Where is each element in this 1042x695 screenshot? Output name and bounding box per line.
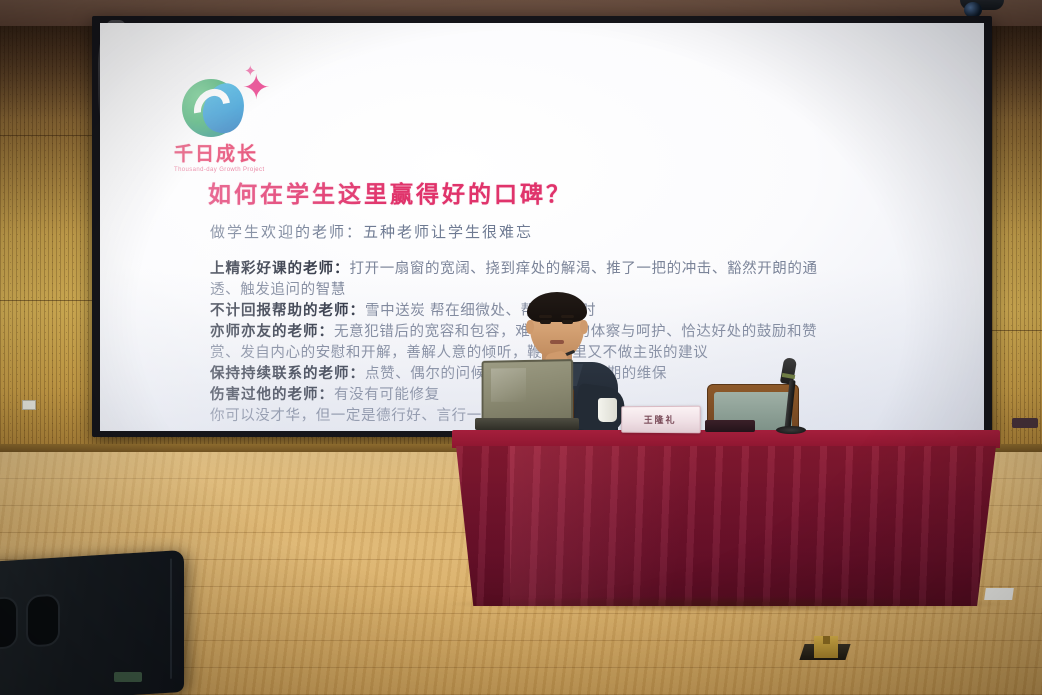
desk-object (705, 420, 755, 432)
wall-seam (0, 135, 92, 136)
presenter-mouth (550, 340, 564, 344)
socket-notch (823, 636, 830, 644)
speaker-foot (114, 672, 142, 682)
floor-socket-box (802, 636, 848, 660)
slide-body-heading: 亦师亦友的老师： (210, 324, 334, 340)
slide-subtitle: 做学生欢迎的老师：五种老师让学生很难忘 (210, 221, 533, 242)
wall-seam (992, 330, 1042, 331)
table-floor-shadow (448, 596, 1008, 612)
slide-title: 如何在学生这里赢得好的口碑？ (208, 175, 572, 209)
slide-body-text: 有没有可能修复 (334, 387, 440, 403)
presenter-ear-right (580, 320, 588, 334)
laptop-base (475, 418, 579, 430)
nameplate-text: 王隆礼 (644, 413, 677, 426)
brand-logo: ✦ ✦ 千日成长 Thousand-day Growth Project (174, 75, 314, 173)
speaker-port-left (0, 596, 18, 650)
presenter-hair (527, 292, 587, 322)
logo-cn-name: 千日成长 (174, 139, 314, 166)
microphone-stem (784, 380, 795, 430)
nameplate: 王隆礼 (621, 406, 700, 434)
slide-body-heading: 上精彩好课的老师： (210, 261, 350, 277)
paper-on-floor (984, 588, 1014, 600)
presenter-brow-right (561, 315, 574, 318)
stage-table (452, 430, 1000, 608)
slide-body-heading: 不计回报帮助的老师： (210, 303, 365, 319)
speaker-port-right (26, 593, 60, 647)
slide-body-line: 上精彩好课的老师：打开一扇窗的宽阔、挠到痒处的解渴、推了一把的冲击、豁然开朗的通 (210, 259, 984, 280)
star-small-icon: ✦ (244, 65, 258, 79)
laptop (480, 360, 572, 434)
slide-body-text: 赏、发自内心的安慰和开解，善解人意的倾听，鞭辟入里又不做主张的建议 (210, 345, 708, 361)
laptop-screen-lid (482, 359, 574, 423)
paper-cup (598, 398, 617, 422)
presenter-brow-left (539, 315, 552, 318)
presenter-eye-right (562, 320, 573, 324)
slide-body-heading: 保持持续联系的老师： (210, 366, 365, 382)
floor-loudspeaker (0, 550, 184, 695)
wall-outlet (22, 400, 36, 410)
table-highlight (510, 446, 753, 606)
wall-seam (0, 300, 92, 301)
slide-body-heading: 伤害过他的老师： (210, 387, 334, 403)
microphone (768, 358, 808, 436)
logo-en-name: Thousand-day Growth Project (174, 167, 314, 173)
slide-body-text: 打开一扇窗的宽阔、挠到痒处的解渴、推了一把的冲击、豁然开朗的通 (350, 261, 818, 277)
slide-body-text: 透、触发追问的智慧 (210, 282, 346, 298)
presenter-eye-left (540, 320, 551, 324)
speaker-edge-highlight (170, 559, 172, 679)
table-skirt (456, 446, 996, 606)
lecture-hall-scene: ✦ ✦ 千日成长 Thousand-day Growth Project 如何在… (0, 0, 1042, 695)
microphone-base (776, 426, 806, 434)
growth-globe-star-icon: ✦ ✦ (182, 75, 274, 137)
presenter-ear-left (526, 320, 534, 334)
desk-object-right (1012, 418, 1038, 428)
